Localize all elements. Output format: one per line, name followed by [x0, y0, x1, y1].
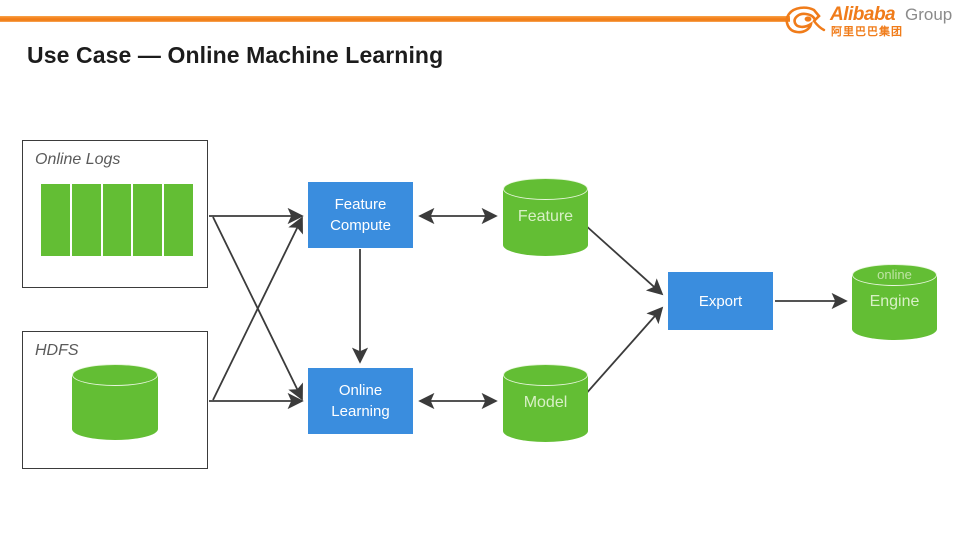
store-model[interactable]: Model	[503, 364, 588, 442]
hdfs-cylinder-graphic	[72, 364, 158, 440]
process-feature-compute[interactable]: Feature Compute	[308, 182, 413, 248]
process-online-learning-label: Online Learning	[331, 380, 389, 422]
log-bars-graphic	[41, 184, 193, 256]
store-model-label: Model	[503, 394, 588, 412]
cylinder-top	[503, 178, 588, 200]
store-feature[interactable]: Feature	[503, 178, 588, 256]
log-bar	[103, 184, 132, 256]
source-online-logs[interactable]: Online Logs	[22, 140, 208, 288]
edge-model-to-export	[584, 308, 662, 396]
cylinder-top	[72, 364, 158, 386]
store-engine-label: Engine	[852, 293, 937, 311]
process-export[interactable]: Export	[668, 272, 773, 330]
log-bar	[72, 184, 101, 256]
store-engine-top-label: online	[852, 267, 937, 282]
log-bar	[41, 184, 70, 256]
store-feature-label: Feature	[503, 208, 588, 226]
process-export-label: Export	[699, 291, 742, 312]
store-online-engine[interactable]: online Engine	[852, 264, 937, 340]
cylinder-top	[503, 364, 588, 386]
log-bar	[164, 184, 193, 256]
source-online-logs-label: Online Logs	[35, 151, 120, 169]
process-online-learning[interactable]: Online Learning	[308, 368, 413, 434]
source-hdfs-label: HDFS	[35, 342, 79, 360]
process-feature-compute-label: Feature Compute	[330, 194, 391, 236]
architecture-diagram: Online Logs HDFS Feature Compute Online …	[0, 0, 960, 540]
log-bar	[133, 184, 162, 256]
edge-feature-to-export	[584, 224, 662, 294]
